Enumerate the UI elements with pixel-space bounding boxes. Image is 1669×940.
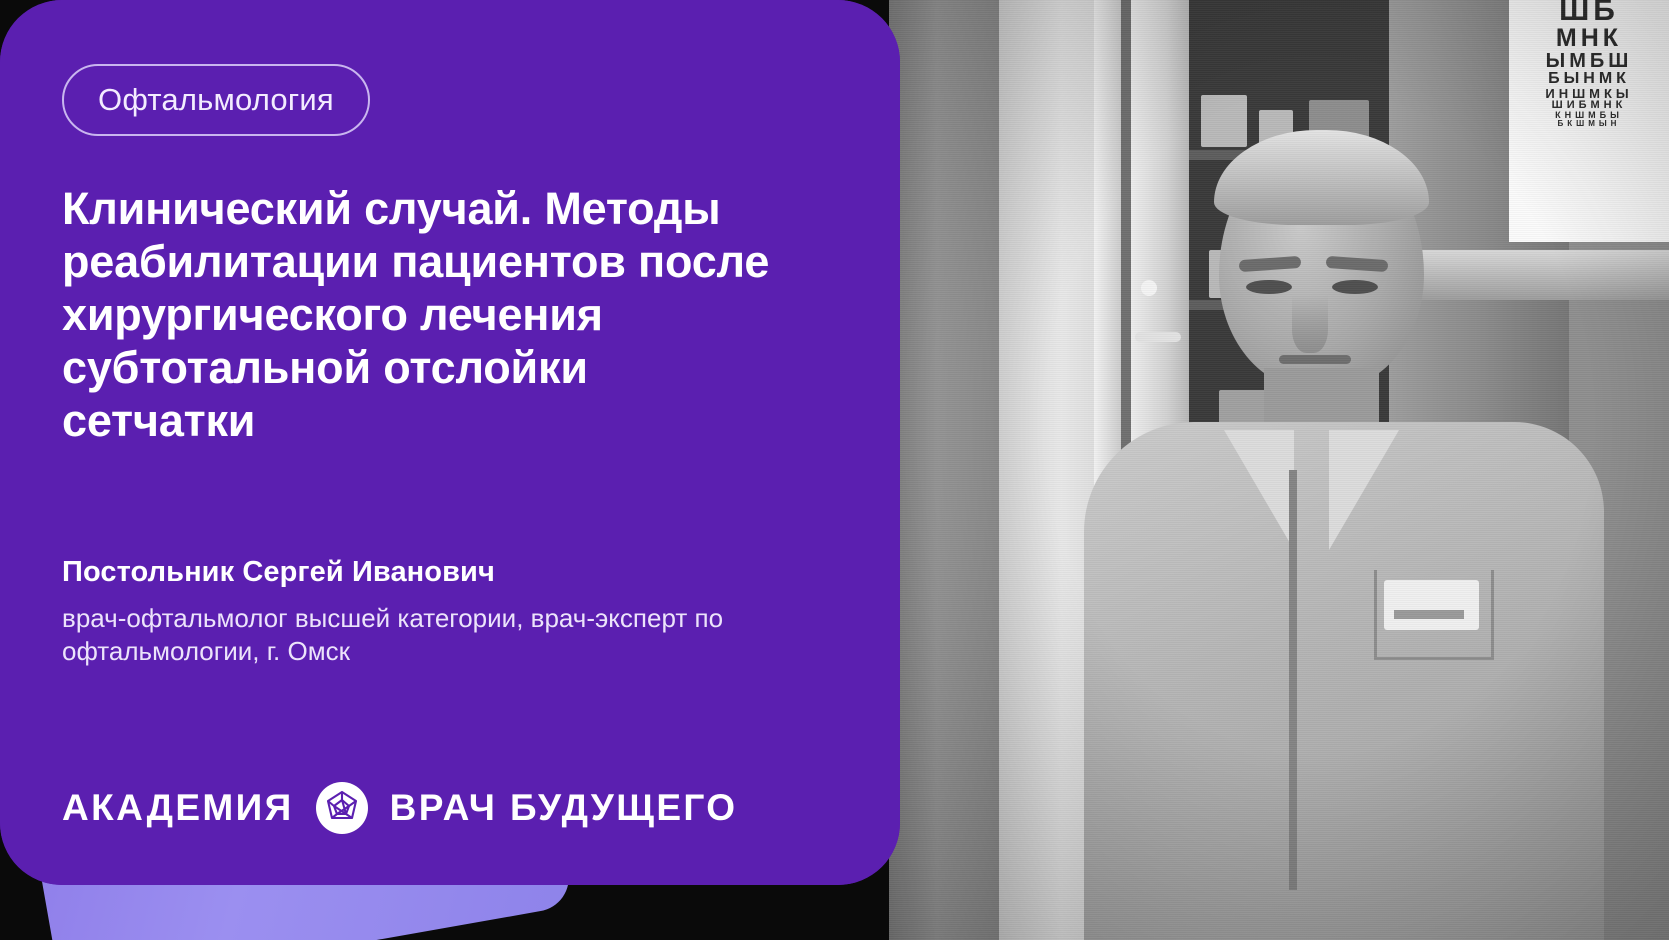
brand-word-left: АКАДЕМИЯ [62, 787, 294, 829]
photo-person [1074, 140, 1634, 940]
speaker-name: Постольник Сергей Иванович [62, 556, 822, 589]
page-title: Клинический случай. Методы реабилитации … [62, 182, 792, 447]
category-badge-label: Офтальмология [98, 82, 334, 118]
content-panel: Офтальмология Клинический случай. Методы… [0, 0, 900, 885]
webinar-announcement-card: ШБ МНК ЫМБШ БЫНМК ИНШМКЫ ШИБМНК КНШМБЫ Б… [0, 0, 1669, 940]
speaker-description: врач-офтальмолог высшей категории, врач-… [62, 602, 762, 669]
photo-person-name-badge [1384, 580, 1479, 630]
photo-person-hair [1214, 130, 1429, 225]
polyhedron-gem-icon [316, 782, 368, 834]
photo-wall-left [889, 0, 1009, 940]
category-badge[interactable]: Офтальмология [62, 64, 370, 136]
speaker-photo: ШБ МНК ЫМБШ БЫНМК ИНШМКЫ ШИБМНК КНШМБЫ Б… [889, 0, 1669, 940]
brand-word-right: ВРАЧ БУДУЩЕГО [390, 787, 738, 829]
brand-lockup: АКАДЕМИЯ ВРАЧ БУДУЩЕГО [62, 782, 737, 834]
